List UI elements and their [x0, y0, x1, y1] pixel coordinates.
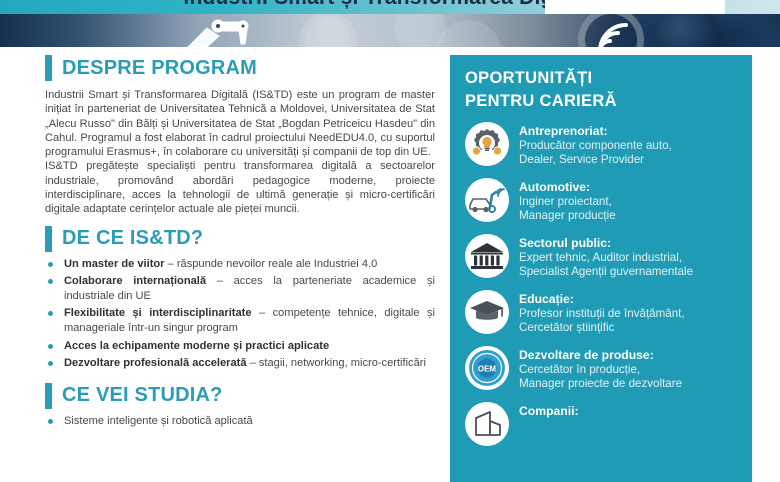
panel-heading-line2: PENTRU CARIERĂ: [465, 90, 752, 113]
opportunity-title: Companii:: [519, 404, 579, 419]
opportunity-desc-line: Cercetător în producție,: [519, 363, 682, 377]
gear-lightbulb-icon: [465, 122, 509, 166]
list-item: Un master de viitor – răspunde nevoilor …: [45, 257, 435, 272]
opportunity-title: Educație:: [519, 292, 685, 307]
opportunity-desc-line: Producător componente auto,: [519, 139, 672, 153]
gear-icon: [400, 14, 440, 47]
bullet-list-de-ce: Un master de viitor – răspunde nevoilor …: [45, 257, 435, 371]
opportunity-title: Dezvoltare de produse:: [519, 348, 682, 363]
header-banner-image: [0, 14, 780, 47]
opportunity-desc-line: Expert tehnic, Auditor industrial,: [519, 251, 693, 265]
career-opportunities-panel: OPORTUNITĂȚI PENTRU CARIERĂ: [450, 55, 752, 482]
list-item: Sectorul public: Expert tehnic, Auditor …: [450, 234, 752, 290]
opportunity-text: Automotive: Inginer proiectant, Manager …: [519, 178, 616, 223]
section-heading-de-ce-istd: DE CE IS&TD?: [45, 226, 435, 252]
opportunity-title: Automotive:: [519, 180, 616, 195]
graduation-cap-icon: [465, 290, 509, 334]
opportunity-text: Educație: Profesor instituții de învățăm…: [519, 290, 685, 335]
panel-heading-line1: OPORTUNITĂȚI: [465, 67, 752, 90]
list-item-strong: Acces la echipamente moderne și practici…: [64, 340, 329, 352]
list-item: Flexibilitate și interdisciplinaritate –…: [45, 306, 435, 335]
panel-heading: OPORTUNITĂȚI PENTRU CARIERĂ: [450, 55, 752, 113]
list-item: Educație: Profesor instituții de învățăm…: [450, 290, 752, 346]
list-item: Antreprenoriat: Producător componente au…: [450, 122, 752, 178]
list-item: Dezvoltare profesională accelerată – sta…: [45, 356, 435, 371]
gear-icon: [305, 18, 351, 47]
list-item-rest: Sisteme inteligente și robotică aplicată: [64, 415, 253, 427]
section-heading-despre-program: DESPRE PROGRAM: [45, 55, 435, 81]
opportunity-desc-line: Profesor instituții de învățământ,: [519, 307, 685, 321]
robot-arm-icon: [175, 16, 271, 47]
title-bar: Industrii Smart și Transformarea Digital…: [0, 0, 780, 14]
factory-building-icon: [465, 402, 509, 446]
list-item: OEM Dezvoltare de produse: Cercetător în…: [450, 346, 752, 402]
svg-text:OEM: OEM: [478, 365, 497, 374]
wifi-signal-icon: [594, 19, 634, 47]
heading-accent-bar: [45, 226, 52, 252]
list-item: Colaborare internațională – acces la par…: [45, 274, 435, 303]
list-item-rest: – răspunde nevoilor reale ale Industriei…: [165, 258, 378, 270]
list-item-strong: Un master de viitor: [64, 258, 165, 270]
gear-icon: [440, 26, 496, 47]
opportunity-desc-line: Inginer proiectant,: [519, 195, 616, 209]
government-building-icon: [465, 234, 509, 278]
list-item: Automotive: Inginer proiectant, Manager …: [450, 178, 752, 234]
opportunity-desc-line: Dealer, Service Provider: [519, 153, 672, 167]
oem-badge-icon: OEM: [465, 346, 509, 390]
paragraph: Industrii Smart și Transformarea Digital…: [45, 88, 435, 159]
list-item: Sisteme inteligente și robotică aplicată: [45, 414, 435, 429]
opportunity-desc-line: Manager producție: [519, 209, 616, 223]
section-heading-ce-vei-studia: CE VEI STUDIA?: [45, 383, 435, 409]
opportunity-desc-line: Cercetător științific: [519, 321, 685, 335]
globe-icon: [655, 14, 721, 47]
heading-accent-bar: [45, 55, 52, 81]
opportunity-desc-line: Specialist Agenții guvernamentale: [519, 265, 693, 279]
poster-page: Industrii Smart și Transformarea Digital…: [0, 0, 780, 482]
list-item-strong: Dezvoltare profesională accelerată: [64, 357, 247, 369]
left-content-column: DESPRE PROGRAM Industrii Smart și Transf…: [45, 55, 435, 431]
heading-accent-bar: [45, 383, 52, 409]
opportunity-list: Antreprenoriat: Producător componente au…: [450, 122, 752, 457]
opportunity-title: Antreprenoriat:: [519, 124, 672, 139]
opportunity-text: Antreprenoriat: Producător componente au…: [519, 122, 672, 167]
section-title: DE CE IS&TD?: [62, 227, 203, 250]
paragraph: IS&TD pregătește specialiști pentru tran…: [45, 159, 435, 216]
bullet-list-ce-vei-studia: Sisteme inteligente și robotică aplicată: [45, 414, 435, 429]
list-item-strong: Colaborare internațională: [64, 275, 206, 287]
car-robot-arm-icon: [465, 178, 509, 222]
opportunity-title: Sectorul public:: [519, 236, 693, 251]
list-item: Companii:: [450, 402, 752, 457]
opportunity-text: Companii:: [519, 402, 579, 419]
opportunity-desc-line: Manager proiecte de dezvoltare: [519, 377, 682, 391]
section-title: DESPRE PROGRAM: [62, 57, 257, 80]
title-white-plate: [545, 0, 725, 14]
list-item-strong: Flexibilitate și interdisciplinaritate: [64, 307, 252, 319]
list-item-rest: – stagii, networking, micro-certificări: [247, 357, 426, 369]
opportunity-text: Dezvoltare de produse: Cercetător în pro…: [519, 346, 682, 391]
list-item: Acces la echipamente moderne și practici…: [45, 339, 435, 354]
section-title: CE VEI STUDIA?: [62, 384, 223, 407]
opportunity-text: Sectorul public: Expert tehnic, Auditor …: [519, 234, 693, 279]
